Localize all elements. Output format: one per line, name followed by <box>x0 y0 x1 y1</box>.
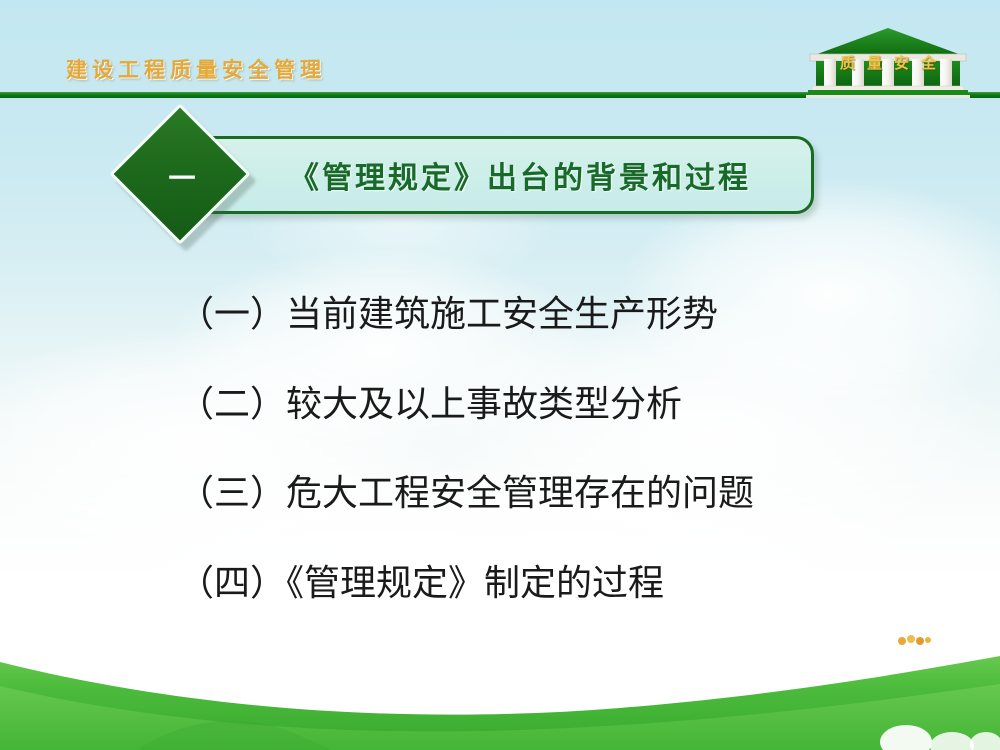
diamond-shape-icon <box>109 103 250 244</box>
section-number-marker: 一 <box>130 124 234 228</box>
sheep-decoration-icon <box>878 690 1000 750</box>
content-list: （一）当前建筑施工安全生产形势 （二）较大及以上事故类型分析 （三）危大工程安全… <box>178 295 938 603</box>
list-item: （一）当前建筑施工安全生产形势 <box>178 295 938 335</box>
presentation-slide: 建设工程质量安全管理 <box>0 0 1000 750</box>
quality-safety-logo: 质量安全 <box>806 26 970 98</box>
temple-building-icon <box>806 26 970 98</box>
section-title-text: 《管理规定》出台的背景和过程 <box>196 136 796 214</box>
grass-field-decoration <box>0 620 1000 750</box>
flower-decoration-icon <box>896 632 932 648</box>
section-title-banner: 《管理规定》出台的背景和过程 <box>196 136 814 214</box>
list-item: （三）危大工程安全管理存在的问题 <box>178 474 938 514</box>
list-item: （四）《管理规定》制定的过程 <box>178 564 938 604</box>
page-title: 建设工程质量安全管理 <box>66 54 326 84</box>
list-item: （二）较大及以上事故类型分析 <box>178 385 938 425</box>
grass-shape-icon <box>0 620 1000 750</box>
